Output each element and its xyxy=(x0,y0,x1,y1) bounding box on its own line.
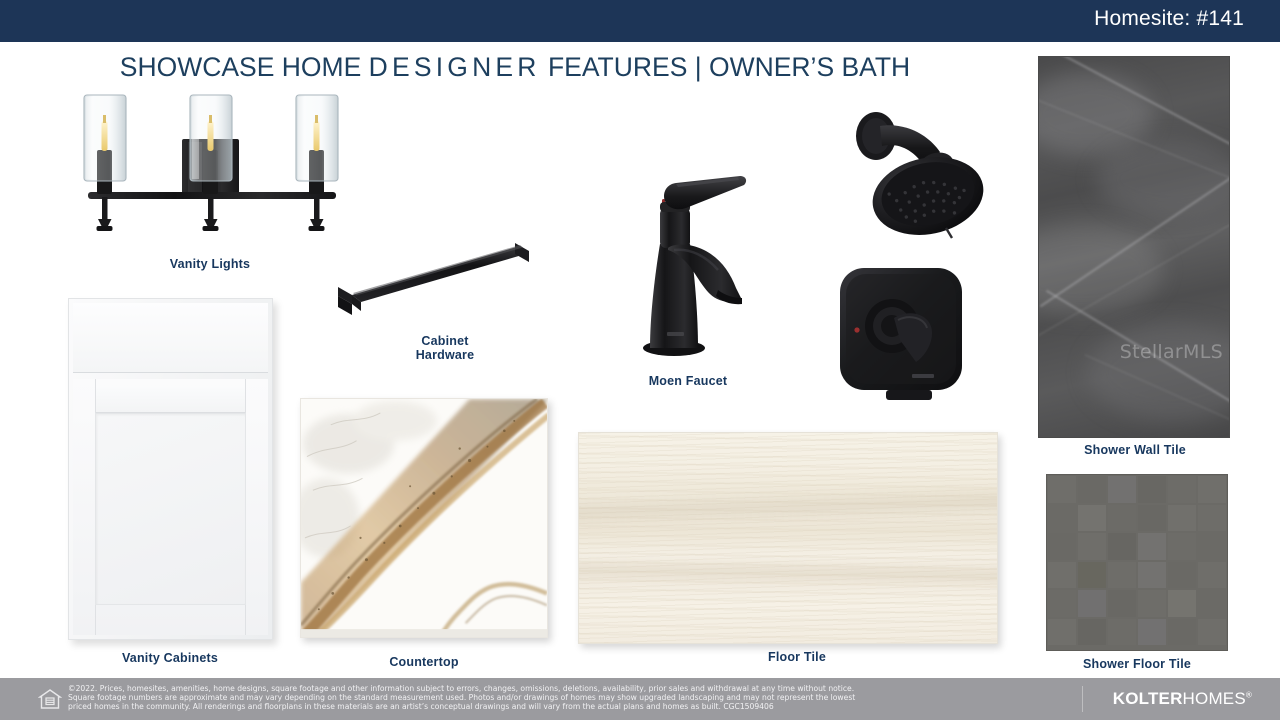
mosaic-tile xyxy=(1138,590,1166,617)
page-title-designer: DESIGNER xyxy=(369,52,541,82)
mosaic-tile xyxy=(1048,476,1076,503)
mosaic-tile xyxy=(1108,590,1136,617)
quartz-slab-texture xyxy=(301,399,547,637)
mosaic-tile xyxy=(1168,562,1196,589)
kolter-homes-logo: KOLTERHOMES® xyxy=(1113,689,1252,709)
faucet-icon xyxy=(634,172,762,358)
label-shower-floor-tile: Shower Floor Tile xyxy=(1044,657,1230,671)
shower-wall-tile-image[interactable]: StellarMLS xyxy=(1038,56,1230,438)
mosaic-tile xyxy=(1048,533,1076,560)
mosaic-tile xyxy=(1198,476,1226,503)
mosaic-tile xyxy=(1048,505,1076,532)
mosaic-tile xyxy=(1078,619,1106,646)
marble-cloud xyxy=(1038,72,1153,156)
mosaic-tile xyxy=(1138,533,1166,560)
mosaic-tile xyxy=(1078,476,1106,503)
vanity-light-fixture-icon xyxy=(62,84,362,249)
vanity-lights-image[interactable] xyxy=(62,84,362,249)
brand-bold: KOLTER xyxy=(1113,689,1183,708)
mosaic-tile xyxy=(1168,533,1196,560)
label-vanity-lights: Vanity Lights xyxy=(140,257,280,271)
marble-cloud xyxy=(1038,224,1163,315)
cabinet-hardware-image[interactable] xyxy=(330,243,540,323)
vanity-cabinet-image[interactable] xyxy=(68,298,273,640)
footer-bar: ©2022. Prices, homesites, amenities, hom… xyxy=(0,678,1280,720)
cabinet-drawer-front xyxy=(73,303,268,373)
mosaic-tile xyxy=(1198,533,1226,560)
legal-line-2: Square footage numbers are approximate a… xyxy=(68,693,1078,702)
label-moen-faucet: Moen Faucet xyxy=(628,374,748,388)
legal-line-3: priced homes in the community. All rende… xyxy=(68,702,1078,711)
mosaic-tile xyxy=(1048,619,1076,646)
mosaic-tile xyxy=(1048,590,1076,617)
shower-trim-image[interactable] xyxy=(828,108,1014,400)
mosaic-tile xyxy=(1138,562,1166,589)
mosaic-tile xyxy=(1138,619,1166,646)
homesite-number: Homesite: #141 xyxy=(1094,7,1244,31)
equal-housing-opportunity-icon xyxy=(38,687,62,711)
brand-registered-mark: ® xyxy=(1246,690,1252,699)
legal-line-1: ©2022. Prices, homesites, amenities, hom… xyxy=(68,684,1078,693)
cabinet-pull-bar-icon xyxy=(330,243,540,323)
marble-cloud xyxy=(1096,141,1230,217)
mosaic-tile xyxy=(1138,476,1166,503)
label-shower-wall-tile: Shower Wall Tile xyxy=(1042,443,1228,457)
mosaic-tile xyxy=(1198,505,1226,532)
mosaic-tile xyxy=(1108,533,1136,560)
mosaic-tile xyxy=(1108,619,1136,646)
mosaic-tile xyxy=(1138,505,1166,532)
mosaic-tile xyxy=(1078,533,1106,560)
mosaic-tile xyxy=(1198,619,1226,646)
mosaic-tile xyxy=(1048,562,1076,589)
countertop-image[interactable] xyxy=(300,398,548,638)
mosaic-tile xyxy=(1168,505,1196,532)
mosaic-tile xyxy=(1168,476,1196,503)
cabinet-door-front xyxy=(73,379,268,635)
shower-floor-tile-image[interactable] xyxy=(1046,474,1228,651)
mosaic-tile xyxy=(1198,590,1226,617)
cabinet-top-rail xyxy=(95,387,246,413)
label-cabinet-hardware-line2: Hardware xyxy=(416,348,475,362)
mosaic-tile xyxy=(1078,505,1106,532)
mosaic-tile xyxy=(1108,562,1136,589)
label-vanity-cabinets: Vanity Cabinets xyxy=(100,651,240,665)
moen-faucet-image[interactable] xyxy=(634,172,762,358)
mosaic-tile xyxy=(1168,590,1196,617)
floor-tile-image[interactable] xyxy=(578,432,998,644)
label-cabinet-hardware-line1: Cabinet xyxy=(421,334,468,348)
designer-features-board: Homesite: #141 SHOWCASE HOME DESIGNER FE… xyxy=(0,0,1280,720)
marble-cloud xyxy=(1087,323,1231,422)
mosaic-tile xyxy=(1198,562,1226,589)
page-title: SHOWCASE HOME DESIGNER FEATURES | OWNER’… xyxy=(0,52,1030,83)
legal-disclaimer: ©2022. Prices, homesites, amenities, hom… xyxy=(68,684,1078,712)
tile-grain-texture xyxy=(579,433,997,643)
label-cabinet-hardware: Cabinet Hardware xyxy=(385,334,505,362)
label-floor-tile: Floor Tile xyxy=(735,650,859,664)
shower-head-and-valve-icon xyxy=(828,108,1014,400)
page-title-part3: FEATURES | OWNER’S BATH xyxy=(541,52,911,82)
mosaic-tile xyxy=(1078,562,1106,589)
mosaic-tile xyxy=(1168,619,1196,646)
cabinet-center-panel xyxy=(95,413,246,605)
label-countertop: Countertop xyxy=(364,655,484,669)
stellarmls-watermark: StellarMLS xyxy=(1120,341,1223,363)
footer-divider xyxy=(1082,686,1083,712)
mosaic-tile xyxy=(1108,476,1136,503)
brand-light: HOMES xyxy=(1183,689,1246,708)
page-title-part1: SHOWCASE HOME xyxy=(120,52,369,82)
top-bar: Homesite: #141 xyxy=(0,0,1280,42)
mosaic-tile xyxy=(1078,590,1106,617)
mosaic-tile xyxy=(1108,505,1136,532)
